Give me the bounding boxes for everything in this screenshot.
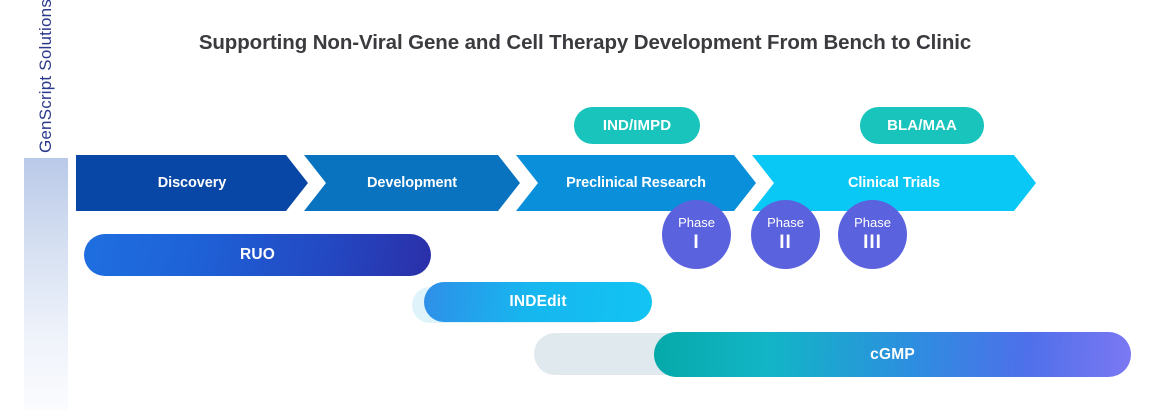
milestone-bla-maa-label: BLA/MAA xyxy=(887,117,957,134)
phase-2-word: Phase xyxy=(767,216,804,230)
sidebar-label-genscript-solutions: GenScript Solutions xyxy=(24,0,68,202)
stage-commercialization-label: Commercialization xyxy=(1020,175,1147,191)
solution-bar-cgmp[interactable]: cGMP xyxy=(654,332,1131,377)
solution-bar-ruo[interactable]: RUO xyxy=(84,234,431,276)
phase-circle-3[interactable]: Phase III xyxy=(838,200,907,269)
stage-development[interactable]: Development xyxy=(304,155,520,211)
milestone-ind-impd-label: IND/IMPD xyxy=(603,117,671,134)
page-title: Supporting Non-Viral Gene and Cell Thera… xyxy=(0,31,1170,55)
stage-discovery-label: Discovery xyxy=(158,175,226,191)
solution-bar-indedit[interactable]: INDEdit xyxy=(424,282,652,322)
phase-1-numeral: I xyxy=(693,233,699,253)
phase-circle-2[interactable]: Phase II xyxy=(751,200,820,269)
phase-1-word: Phase xyxy=(678,216,715,230)
phase-2-numeral: II xyxy=(779,233,792,253)
solution-bar-indedit-label: INDEdit xyxy=(509,293,566,311)
phase-circle-1[interactable]: Phase I xyxy=(662,200,731,269)
stage-development-label: Development xyxy=(367,175,457,191)
stage-preclinical-research[interactable]: Preclinical Research xyxy=(516,155,756,211)
phase-3-numeral: III xyxy=(863,233,882,253)
stage-preclinical-research-label: Preclinical Research xyxy=(566,175,706,191)
solution-bar-ruo-label: RUO xyxy=(240,246,275,264)
stage-chevron-bar: Discovery Development Preclinical Resear… xyxy=(76,155,1146,211)
stage-discovery[interactable]: Discovery xyxy=(76,155,308,211)
milestone-bla-maa[interactable]: BLA/MAA xyxy=(860,107,984,144)
milestone-ind-impd[interactable]: IND/IMPD xyxy=(574,107,700,144)
stage-clinical-trials-label: Clinical Trials xyxy=(848,175,940,191)
solution-bar-cgmp-label: cGMP xyxy=(870,346,915,364)
phase-3-word: Phase xyxy=(854,216,891,230)
